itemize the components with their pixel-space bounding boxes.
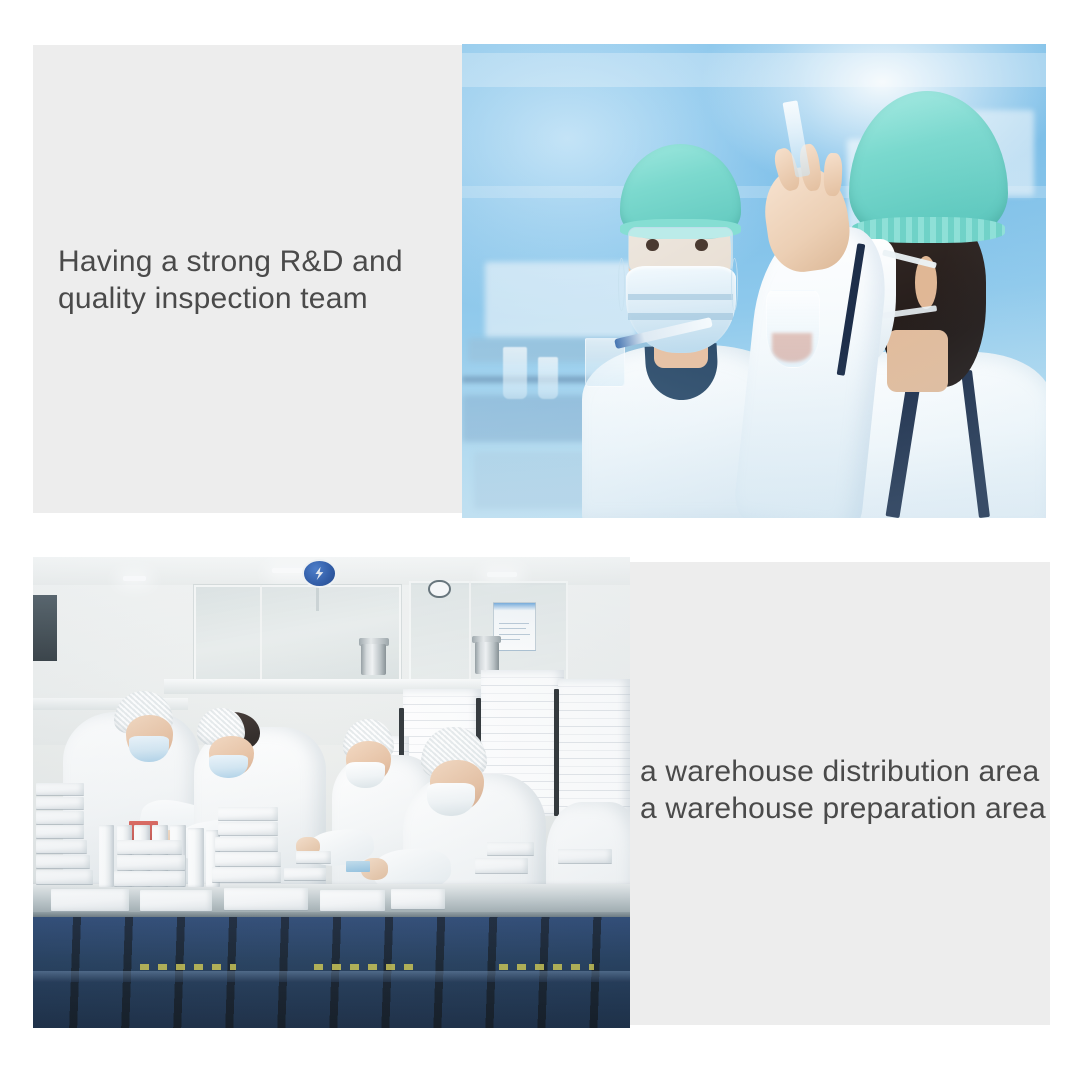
product-carton xyxy=(218,822,278,836)
packing-scene-background xyxy=(33,557,630,1028)
product-carton xyxy=(218,807,278,821)
product-carton xyxy=(36,797,84,809)
product-carton xyxy=(36,783,84,795)
notice-text-line xyxy=(499,639,520,640)
clock-icon xyxy=(428,580,451,599)
product-carton xyxy=(558,849,612,863)
wall-notice-board xyxy=(493,602,537,651)
bench-marking-tape xyxy=(140,964,236,970)
product-carton xyxy=(284,868,326,880)
bench-lower-shelf xyxy=(33,971,630,981)
mask-ear-loop xyxy=(731,258,738,311)
bench-marking-tape xyxy=(314,964,421,970)
product-carton xyxy=(188,828,204,887)
product-carton xyxy=(320,890,386,911)
product-carton xyxy=(51,889,129,911)
ceiling-light xyxy=(487,572,517,577)
product-carton xyxy=(117,840,183,854)
notice-text-line xyxy=(499,634,530,635)
window-mullion xyxy=(260,585,262,679)
product-carton xyxy=(215,837,278,851)
product-carton xyxy=(36,870,93,885)
blue-carton xyxy=(346,861,370,872)
product-carton xyxy=(36,825,84,837)
product-carton xyxy=(487,842,535,855)
product-carton xyxy=(114,871,186,886)
lab-inspection-photo xyxy=(462,44,1046,518)
product-carton xyxy=(215,852,281,867)
bottom-caption: a warehouse distribution area a warehous… xyxy=(640,753,1046,827)
product-carton xyxy=(36,840,87,853)
technician-eye xyxy=(695,239,708,252)
product-carton xyxy=(296,851,332,863)
bench-marking-tape xyxy=(499,964,595,970)
technician-eye xyxy=(646,239,659,252)
mask-ear-loop xyxy=(618,258,625,311)
top-caption-line-1: Having a strong R&D and xyxy=(58,243,403,280)
notice-text-line xyxy=(499,628,527,629)
lightning-bolt-icon xyxy=(302,559,337,587)
product-carton xyxy=(140,890,212,911)
window-mullion xyxy=(469,581,471,685)
product-carton xyxy=(475,858,529,872)
product-carton xyxy=(212,867,281,882)
product-carton xyxy=(99,825,115,886)
product-carton xyxy=(117,855,186,870)
wall-recess xyxy=(33,595,57,661)
mask-pleat xyxy=(628,294,733,300)
product-carton xyxy=(224,888,308,911)
lab-glassware xyxy=(503,347,528,399)
mask-pleat xyxy=(628,313,733,319)
bottom-caption-line-2: a warehouse preparation area xyxy=(640,790,1046,827)
top-caption-line-2: quality inspection team xyxy=(58,280,403,317)
lab-glassware xyxy=(538,357,558,400)
steel-canister xyxy=(475,642,499,674)
carton-stack xyxy=(558,679,630,816)
product-carton xyxy=(391,889,445,910)
ceiling-light xyxy=(123,576,147,582)
top-caption: Having a strong R&D and quality inspecti… xyxy=(58,243,403,317)
slide-canvas: Having a strong R&D and quality inspecti… xyxy=(0,0,1080,1080)
steel-canister xyxy=(361,644,386,675)
rack-upright xyxy=(554,689,559,816)
hand-finger xyxy=(823,153,842,196)
product-carton xyxy=(36,855,90,869)
warehouse-packing-photo xyxy=(33,557,630,1028)
lab-scene-background xyxy=(462,44,1046,518)
notice-text-line xyxy=(499,623,529,624)
flask-liquid xyxy=(772,333,813,361)
product-carton xyxy=(36,811,84,823)
bottom-caption-line-1: a warehouse distribution area xyxy=(640,753,1046,790)
